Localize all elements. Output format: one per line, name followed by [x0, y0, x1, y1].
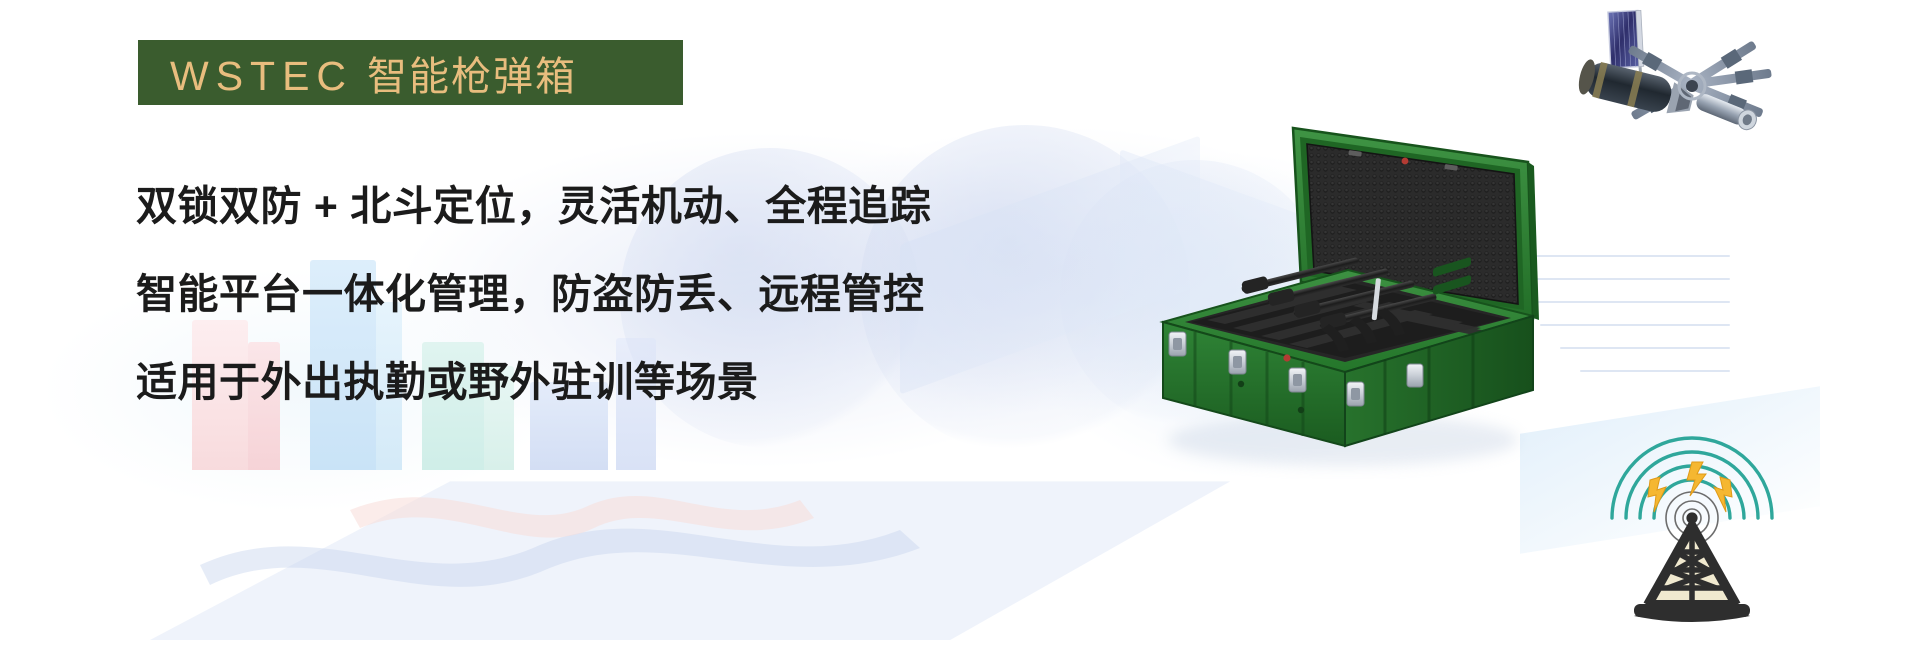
feature-line-2: 智能平台一体化管理，防盗防丢、远程管控	[136, 274, 1036, 315]
page-title: WSTEC智能枪弹箱	[138, 44, 577, 102]
feature-line-1: 双锁双防 + 北斗定位，灵活机动、全程追踪	[136, 186, 1036, 227]
title-latin: WSTEC	[170, 53, 353, 99]
title-chinese: 智能枪弹箱	[367, 55, 577, 99]
backdrop-ribbon	[150, 470, 1230, 640]
title-plate: WSTEC智能枪弹箱	[138, 40, 683, 105]
antenna-node	[1686, 512, 1697, 523]
product-image-gun-case	[1133, 110, 1593, 480]
feature-line-3: 适用于外出执勤或野外驻训等场景	[136, 362, 1036, 403]
promo-banner: WSTEC智能枪弹箱 双锁双防 + 北斗定位，灵活机动、全程追踪 智能平台一体化…	[0, 0, 1920, 648]
backdrop-waves	[120, 470, 1020, 620]
satellite-icon	[1570, 2, 1780, 152]
lightning-bolts	[1648, 462, 1732, 512]
backdrop-line	[1580, 370, 1730, 372]
tower-structure	[1634, 522, 1750, 622]
feature-list: 双锁双防 + 北斗定位，灵活机动、全程追踪 智能平台一体化管理，防盗防丢、远程管…	[136, 186, 1036, 450]
signal-tower-icon	[1588, 418, 1798, 623]
